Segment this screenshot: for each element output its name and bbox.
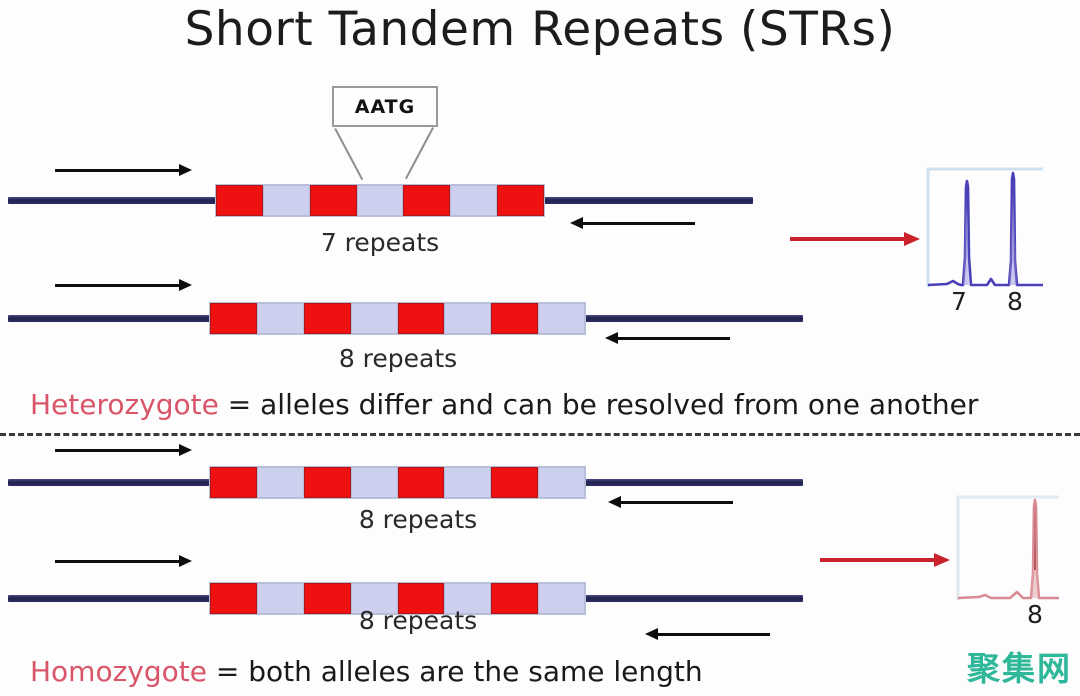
repeat-block-pale [263, 185, 310, 216]
reverse-primer-arrow [645, 628, 770, 640]
repeat-block-pale [257, 303, 304, 334]
repeat-block-red [210, 467, 257, 498]
repeat-block-pale [538, 467, 585, 498]
allele-strand-het-2 [0, 288, 810, 348]
repeat-block-pale [257, 583, 304, 614]
homozygote-conclusion: Homozygote = both alleles are the same l… [30, 655, 703, 688]
repeat-block-red [304, 467, 351, 498]
transfer-arrow-homozygote [820, 553, 950, 567]
heterozygote-term: Heterozygote [30, 388, 219, 421]
tick-label: 8 [987, 287, 1043, 316]
forward-primer-arrow [55, 164, 192, 176]
repeat-block-pale [538, 583, 585, 614]
forward-primer-arrow [55, 555, 192, 567]
repeat-block-red [210, 303, 257, 334]
homozygote-term: Homozygote [30, 655, 207, 688]
repeat-block-pale [257, 467, 304, 498]
electropherogram-homozygote: 8 [955, 492, 1065, 637]
reverse-primer-arrow [608, 496, 733, 508]
repeat-block-pale [357, 185, 404, 216]
repeat-count-label: 8 repeats [318, 505, 518, 534]
page-title: Short Tandem Repeats (STRs) [0, 2, 1080, 57]
section-divider [0, 433, 1080, 436]
repeat-block-red [398, 303, 445, 334]
repeat-track [209, 302, 586, 335]
heterozygote-conclusion: Heterozygote = alleles differ and can be… [30, 388, 978, 421]
reverse-primer-arrow [570, 217, 695, 229]
repeat-block-red [398, 467, 445, 498]
repeat-block-red [403, 185, 450, 216]
repeat-block-red [310, 185, 357, 216]
allele-strand-hom-1 [0, 452, 810, 512]
repeat-block-red [491, 303, 538, 334]
tick-label: 8 [1007, 600, 1063, 629]
repeat-block-pale [538, 303, 585, 334]
repeat-block-red [304, 303, 351, 334]
repeat-block-pale [351, 303, 398, 334]
electropherogram-plot [955, 492, 1065, 604]
homozygote-definition: = both alleles are the same length [207, 655, 703, 688]
repeat-block-red [210, 583, 257, 614]
repeat-count-label: 7 repeats [280, 228, 480, 257]
repeat-unit-callout: AATG [332, 86, 438, 127]
electropherogram-heterozygote: 7 8 [925, 165, 1053, 330]
str-diagram-canvas: Short Tandem Repeats (STRs) AATG 7 repea… [0, 0, 1080, 696]
forward-primer-arrow [55, 279, 192, 291]
repeat-block-red [497, 185, 544, 216]
transfer-arrow-heterozygote [790, 232, 920, 246]
repeat-track [215, 184, 545, 217]
repeat-block-pale [351, 467, 398, 498]
reverse-primer-arrow [605, 332, 730, 344]
repeat-block-pale [444, 303, 491, 334]
repeat-block-pale [444, 467, 491, 498]
forward-primer-arrow [55, 444, 192, 456]
repeat-block-red [216, 185, 263, 216]
repeat-track [209, 466, 586, 499]
repeat-count-label: 8 repeats [298, 344, 498, 373]
repeat-count-label: 8 repeats [318, 606, 518, 635]
allele-strand-het-1 [0, 170, 760, 230]
electropherogram-tick-labels: 7 8 [931, 287, 1043, 316]
heterozygote-definition: = alleles differ and can be resolved fro… [219, 388, 979, 421]
electropherogram-plot [925, 165, 1053, 290]
electropherogram-tick-labels: 8 [1007, 600, 1063, 629]
watermark: 聚集网 [967, 642, 1072, 690]
tick-label: 7 [931, 287, 987, 316]
repeat-block-pale [450, 185, 497, 216]
repeat-block-red [491, 467, 538, 498]
